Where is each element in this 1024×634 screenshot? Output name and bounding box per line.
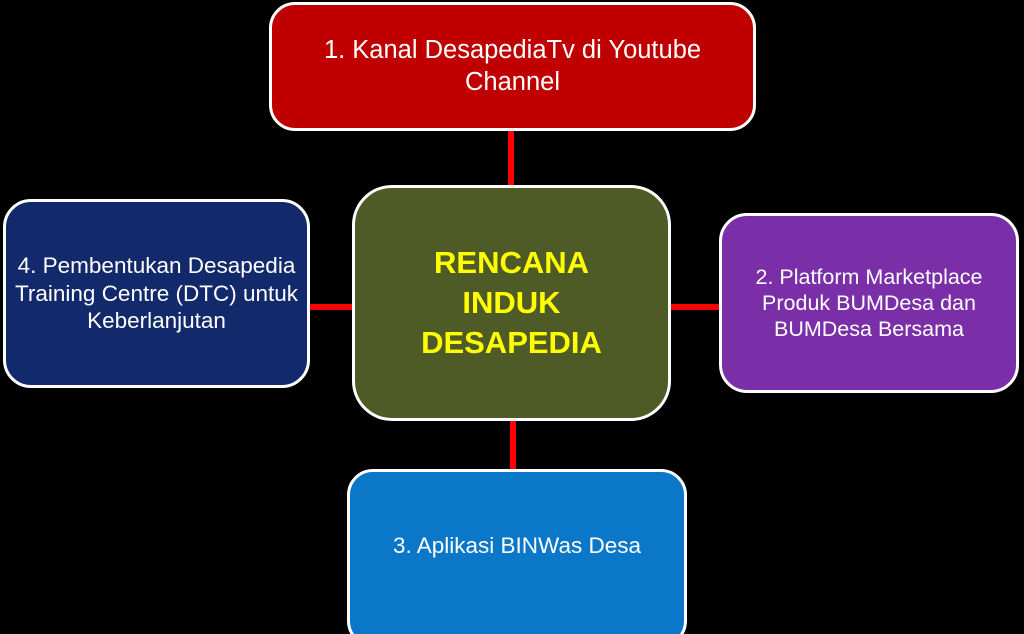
node-top-label: 1. Kanal DesapediaTv di Youtube Channel [272, 35, 753, 97]
node-right-label: 2. Platform Marketplace Produk BUMDesa d… [722, 264, 1016, 343]
node-kanal-desapediatv[interactable]: 1. Kanal DesapediaTv di Youtube Channel [269, 2, 756, 131]
connector-center-to-bottom [510, 420, 516, 472]
node-platform-marketplace[interactable]: 2. Platform Marketplace Produk BUMDesa d… [719, 213, 1019, 393]
node-aplikasi-binwas-desa[interactable]: 3. Aplikasi BINWas Desa [347, 469, 687, 634]
connector-center-to-right [668, 304, 721, 310]
node-center-label: RENCANA INDUK DESAPEDIA [355, 243, 668, 364]
node-rencana-induk-desapedia[interactable]: RENCANA INDUK DESAPEDIA [352, 185, 671, 421]
node-left-label: 4. Pembentukan Desapedia Training Centre… [6, 252, 307, 334]
node-desapedia-training-centre[interactable]: 4. Pembentukan Desapedia Training Centre… [3, 199, 310, 388]
connector-center-to-left [308, 304, 355, 310]
connector-center-to-top [508, 130, 514, 188]
diagram-canvas: 1. Kanal DesapediaTv di Youtube Channel … [0, 0, 1024, 634]
node-bottom-label: 3. Aplikasi BINWas Desa [350, 532, 684, 559]
